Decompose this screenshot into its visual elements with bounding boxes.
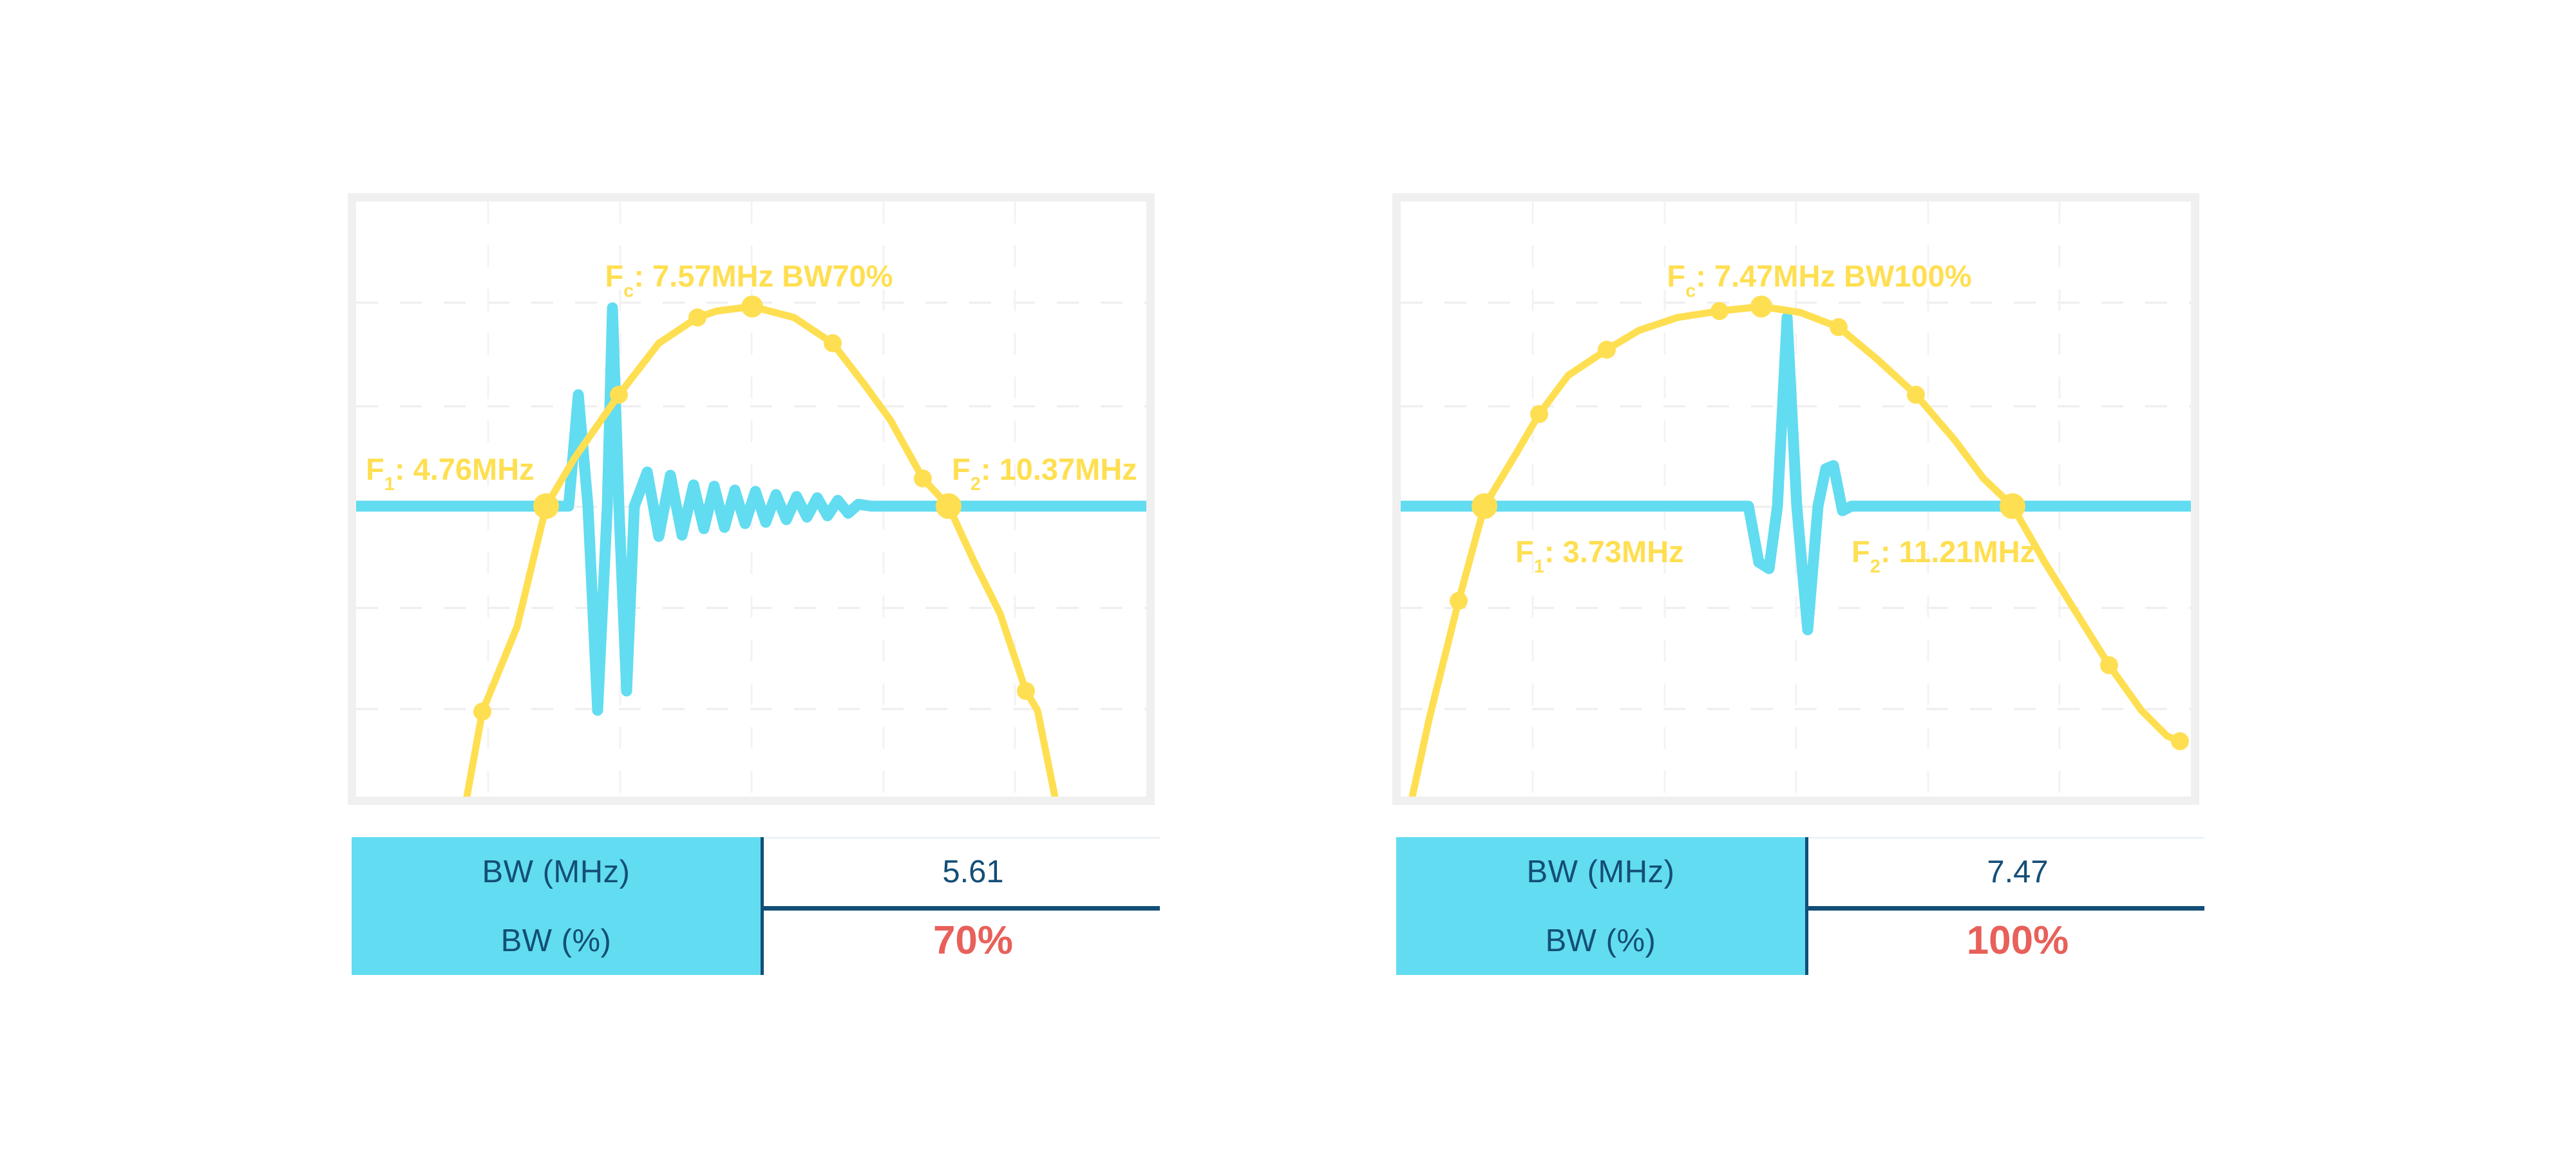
table-row: BW (MHz) 7.47 bbox=[1396, 837, 2227, 906]
spectrum-curve-left bbox=[467, 307, 1055, 797]
chart-inner-right: Fc: 7.47MHz BW100% F1: 3.73MHz F2: 11.21… bbox=[1401, 202, 2191, 797]
table-key-cell: BW (MHz) bbox=[352, 837, 764, 906]
annotation-fc-left-prefix: F bbox=[605, 259, 623, 293]
table-value-cell: 70% bbox=[764, 906, 1182, 975]
annotation-f1-right-sub: 1 bbox=[1534, 556, 1544, 577]
annotation-f1-left-text: : 4.76MHz bbox=[395, 452, 535, 486]
annotation-f1-right-text: : 3.73MHz bbox=[1544, 534, 1684, 569]
panel-right: Fc: 7.47MHz BW100% F1: 3.73MHz F2: 11.21… bbox=[1392, 193, 2217, 1043]
annotation-f2-right: F2: 11.21MHz bbox=[1851, 534, 2035, 577]
panels-container: Fc: 7.57MHz BW70% F1: 4.76MHz F2: 10.37M… bbox=[0, 0, 2576, 1154]
table-value-cell: 5.61 bbox=[764, 837, 1182, 906]
bw-table-right: BW (MHz) 7.47 BW (%) 100% bbox=[1396, 837, 2227, 992]
chart-frame-right: Fc: 7.47MHz BW100% F1: 3.73MHz F2: 11.21… bbox=[1392, 193, 2199, 805]
table-key-label: BW (%) bbox=[501, 923, 612, 959]
table-key-label: BW (%) bbox=[1546, 923, 1656, 959]
table-value-bw-mhz: 7.47 bbox=[1987, 854, 2048, 890]
pulse-waveform-right bbox=[1401, 317, 2191, 630]
table-key-label: BW (MHz) bbox=[1527, 854, 1675, 890]
annotation-f1-right-prefix: F bbox=[1515, 534, 1534, 569]
table-key-label: BW (MHz) bbox=[482, 854, 630, 890]
chart-frame-left: Fc: 7.57MHz BW70% F1: 4.76MHz F2: 10.37M… bbox=[348, 193, 1155, 805]
annotation-f2-left: F2: 10.37MHz bbox=[952, 452, 1137, 495]
annotation-f2-left-prefix: F bbox=[952, 452, 971, 486]
table-row: BW (%) 100% bbox=[1396, 906, 2227, 975]
chart-left-svg: Fc: 7.57MHz BW70% F1: 4.76MHz F2: 10.37M… bbox=[356, 202, 1146, 797]
table-value-cell: 100% bbox=[1808, 906, 2227, 975]
annotation-f2-right-text: : 11.21MHz bbox=[1880, 534, 2035, 569]
table-value-bw-percent: 100% bbox=[1967, 918, 2069, 963]
annotation-f1-left-sub: 1 bbox=[384, 474, 395, 495]
chart-right-svg: Fc: 7.47MHz BW100% F1: 3.73MHz F2: 11.21… bbox=[1401, 202, 2191, 797]
annotation-f1-right: F1: 3.73MHz bbox=[1515, 534, 1684, 577]
annotation-f2-left-text: : 10.37MHz bbox=[981, 452, 1137, 486]
annotation-f1-left: F1: 4.76MHz bbox=[366, 452, 535, 495]
table-key-cell: BW (%) bbox=[352, 906, 764, 975]
annotation-f1-left-prefix: F bbox=[366, 452, 384, 486]
table-key-cell: BW (MHz) bbox=[1396, 837, 1808, 906]
table-value-cell: 7.47 bbox=[1808, 837, 2227, 906]
annotation-fc-left: Fc: 7.57MHz BW70% bbox=[605, 259, 893, 301]
table-key-cell: BW (%) bbox=[1396, 906, 1808, 975]
table-row: BW (MHz) 5.61 bbox=[352, 837, 1182, 906]
table-top-hairline bbox=[764, 837, 1160, 838]
table-top-hairline bbox=[1808, 837, 2204, 838]
annotation-f2-right-prefix: F bbox=[1851, 534, 1870, 569]
table-value-bw-mhz: 5.61 bbox=[942, 854, 1003, 890]
panel-left: Fc: 7.57MHz BW70% F1: 4.76MHz F2: 10.37M… bbox=[348, 193, 1172, 1043]
table-value-bw-percent: 70% bbox=[933, 918, 1013, 963]
annotation-fc-left-sub: c bbox=[623, 281, 634, 301]
annotation-fc-right: Fc: 7.47MHz BW100% bbox=[1667, 259, 1971, 301]
annotation-fc-right-prefix: F bbox=[1667, 259, 1685, 293]
annotation-fc-right-text: : 7.47MHz BW100% bbox=[1696, 259, 1971, 293]
bw-table-left: BW (MHz) 5.61 BW (%) 70% bbox=[352, 837, 1182, 992]
table-row: BW (%) 70% bbox=[352, 906, 1182, 975]
annotation-fc-left-text: : 7.57MHz BW70% bbox=[634, 259, 893, 293]
annotation-fc-right-sub: c bbox=[1685, 281, 1696, 301]
annotation-f2-left-sub: 2 bbox=[971, 474, 981, 495]
annotation-f2-right-sub: 2 bbox=[1870, 556, 1880, 577]
chart-inner-left: Fc: 7.57MHz BW70% F1: 4.76MHz F2: 10.37M… bbox=[356, 202, 1146, 797]
